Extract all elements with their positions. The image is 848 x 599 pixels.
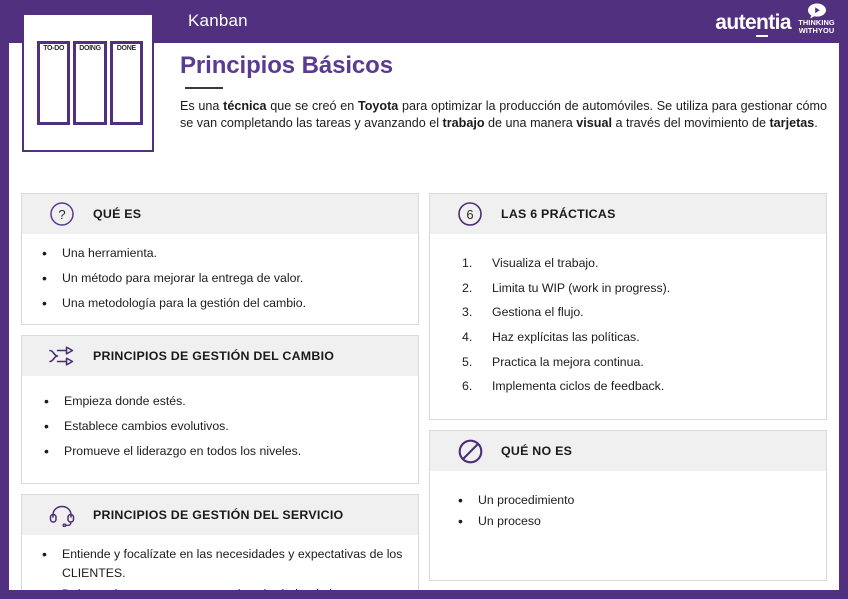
list-item: Una metodología para la gestión del camb… [34, 294, 406, 313]
list-item-number: 4. [462, 328, 478, 348]
list-item-text: Limita tu WIP (work in progress). [492, 281, 670, 295]
headset-icon [48, 501, 76, 529]
kanban-column-todo: TO-DO [37, 41, 70, 125]
list-item: Un método para mejorar la entrega de val… [34, 269, 406, 288]
number-six-circle-icon: 6 [456, 200, 484, 228]
list-practicas: 1.Visualiza el trabajo.2.Limita tu WIP (… [450, 254, 814, 397]
list-item: Deja que la gente se auto-organice alred… [34, 585, 406, 599]
kanban-column-label: DOING [76, 45, 103, 52]
kanban-column-done: DONE [110, 41, 143, 125]
panel-header: PRINCIPIOS DE GESTIÓN DEL SERVICIO [22, 495, 418, 535]
prohibited-circle-icon [456, 437, 484, 465]
list-item: 4.Haz explícitas las políticas. [450, 328, 814, 348]
kanban-board-icon: TO-DO DOING DONE [22, 13, 154, 152]
list-gestion-servicio: Entiende y focalízate en las necesidades… [34, 545, 406, 599]
list-item-text: Practica la mejora continua. [492, 355, 644, 369]
list-item: Entiende y focalízate en las necesidades… [34, 545, 406, 582]
autentia-logo-underlined-letter: n [756, 11, 768, 37]
panel-title: QUÉ NO ES [501, 444, 572, 458]
hero-text-run: que se creó en [267, 99, 358, 113]
thinking-with-you-logo: THINKING WITHYOU [793, 3, 840, 35]
hero-emphasis: visual [576, 116, 612, 130]
list-item: Promueve el liderazgo en todos los nivel… [36, 442, 406, 461]
right-column: 6 LAS 6 PRÁCTICAS 1.Visualiza el trabajo… [429, 193, 827, 581]
list-item: 6.Implementa ciclos de feedback. [450, 377, 814, 397]
list-item: 3.Gestiona el flujo. [450, 303, 814, 323]
panel-gestion-servicio: PRINCIPIOS DE GESTIÓN DEL SERVICIO Entie… [21, 494, 419, 599]
branch-arrows-icon [48, 342, 76, 370]
page-title: Kanban [188, 11, 248, 31]
list-item: Un procedimiento [450, 491, 814, 509]
panel-title: LAS 6 PRÁCTICAS [501, 207, 616, 221]
svg-text:6: 6 [466, 207, 473, 222]
hero-emphasis: técnica [223, 99, 266, 113]
hero-text-run: Es una [180, 99, 223, 113]
hero-paragraph: Es una técnica que se creó en Toyota par… [180, 98, 827, 132]
list-item: 5.Practica la mejora continua. [450, 353, 814, 373]
autentia-logo-text: aute [715, 11, 756, 34]
autentia-logo-text-end: tia [768, 11, 791, 34]
list-item-number: 3. [462, 303, 478, 323]
panel-title: PRINCIPIOS DE GESTIÓN DEL CAMBIO [93, 349, 334, 363]
list-gestion-cambio: Empieza donde estés.Establece cambios ev… [36, 392, 406, 461]
list-item-number: 2. [462, 279, 478, 299]
hero-divider [185, 87, 223, 89]
hero-title: Principios Básicos [180, 52, 827, 80]
kanban-board-columns: TO-DO DOING DONE [37, 41, 143, 125]
list-item-text: Haz explícitas las políticas. [492, 330, 640, 344]
left-column: ? QUÉ ES Una herramienta.Un método para … [21, 193, 419, 581]
panel-que-es: ? QUÉ ES Una herramienta.Un método para … [21, 193, 419, 325]
hero-emphasis: Toyota [358, 99, 398, 113]
panel-gestion-cambio: PRINCIPIOS DE GESTIÓN DEL CAMBIO Empieza… [21, 335, 419, 484]
hero-text-run: a través del movimiento de [612, 116, 770, 130]
question-mark-circle-icon: ? [48, 200, 76, 228]
autentia-logo: autentia [715, 11, 791, 35]
list-item: Establece cambios evolutivos. [36, 417, 406, 436]
svg-text:?: ? [58, 207, 65, 222]
list-item: Empieza donde estés. [36, 392, 406, 411]
hero-emphasis: trabajo [443, 116, 485, 130]
kanban-column-doing: DOING [73, 41, 106, 125]
list-item-number: 1. [462, 254, 478, 274]
tagline-line-2: WITHYOU [793, 27, 840, 35]
list-item: Un proceso [450, 512, 814, 530]
kanban-column-label: DONE [113, 45, 140, 52]
kanban-column-label: TO-DO [40, 45, 67, 52]
list-item-text: Implementa ciclos de feedback. [492, 379, 664, 393]
panel-body: Empieza donde estés.Establece cambios ev… [22, 376, 418, 483]
panel-title: PRINCIPIOS DE GESTIÓN DEL SERVICIO [93, 508, 343, 522]
panel-body: Una herramienta.Un método para mejorar l… [22, 234, 418, 324]
list-item-text: Gestiona el flujo. [492, 305, 584, 319]
list-item: Una herramienta. [34, 244, 406, 263]
panel-header: QUÉ NO ES [430, 431, 826, 471]
hero-section: Principios Básicos Es una técnica que se… [180, 52, 827, 132]
panel-body: Entiende y focalízate en las necesidades… [22, 535, 418, 599]
panel-body: Un procedimientoUn proceso [430, 471, 826, 556]
hero-emphasis: tarjetas [769, 116, 814, 130]
panel-header: ? QUÉ ES [22, 194, 418, 234]
panel-title: QUÉ ES [93, 207, 141, 221]
list-item-text: Visualiza el trabajo. [492, 256, 598, 270]
list-item: 2.Limita tu WIP (work in progress). [450, 279, 814, 299]
hero-text-run: . [814, 116, 818, 130]
speech-bubble-icon [793, 3, 840, 19]
list-que-es: Una herramienta.Un método para mejorar l… [34, 244, 406, 313]
panel-que-no-es: QUÉ NO ES Un procedimientoUn proceso [429, 430, 827, 581]
list-item-number: 5. [462, 353, 478, 373]
panel-header: 6 LAS 6 PRÁCTICAS [430, 194, 826, 234]
panel-header: PRINCIPIOS DE GESTIÓN DEL CAMBIO [22, 336, 418, 376]
panel-practicas: 6 LAS 6 PRÁCTICAS 1.Visualiza el trabajo… [429, 193, 827, 420]
list-item-number: 6. [462, 377, 478, 397]
infographic-page: Kanban autentia THINKING WITHYOU TO-DO D… [0, 0, 848, 599]
list-item: 1.Visualiza el trabajo. [450, 254, 814, 274]
hero-text-run: de una manera [485, 116, 577, 130]
list-que-no-es: Un procedimientoUn proceso [450, 491, 814, 531]
panel-body: 1.Visualiza el trabajo.2.Limita tu WIP (… [430, 234, 826, 419]
content-columns: ? QUÉ ES Una herramienta.Un método para … [21, 193, 827, 581]
